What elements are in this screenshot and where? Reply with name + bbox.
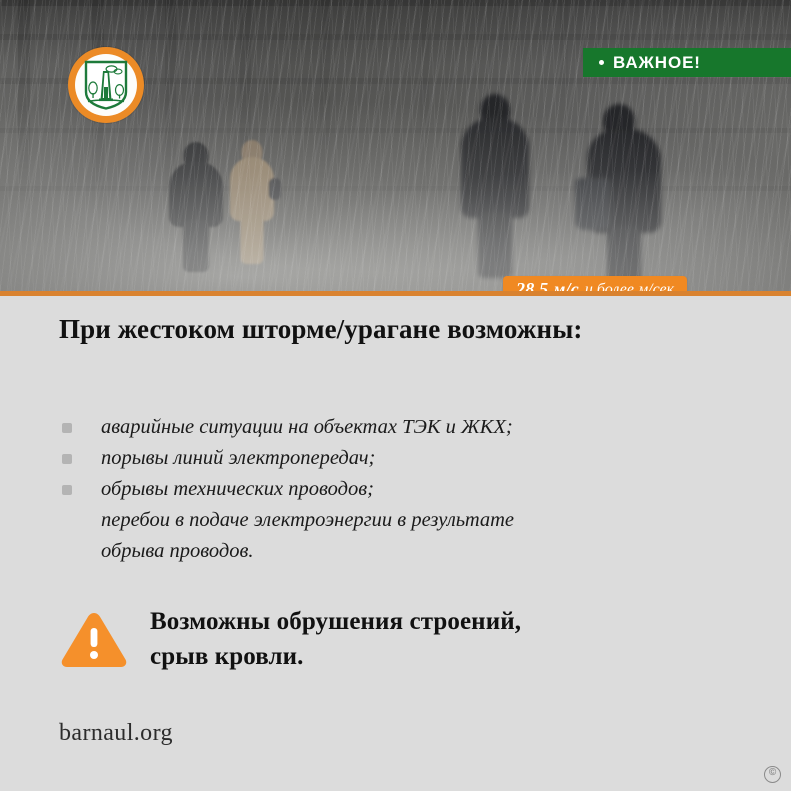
list-item-label: обрыва проводов.	[101, 540, 254, 562]
important-badge-label: ВАЖНОЕ!	[613, 54, 701, 71]
bullet-dot-icon	[599, 60, 604, 65]
list-item-label: обрывы технических проводов;	[101, 478, 374, 500]
site-url[interactable]: barnaul.org	[59, 720, 173, 747]
list-item-label: аварийные ситуации на объектах ТЭК и ЖКХ…	[101, 416, 513, 438]
storm-warning-poster: ВАЖНОЕ! 28,5 м/с и более м/сек При жесто…	[0, 0, 791, 791]
barnaul-coat-of-arms-logo	[68, 47, 144, 123]
hazard-list: аварийные ситуации на объектах ТЭК и ЖКХ…	[59, 412, 749, 567]
collapse-warning-line-1: Возможны обрушения строений,	[150, 604, 521, 639]
collapse-warning-line-2: срыв кровли.	[150, 639, 521, 674]
list-item: перебои в подаче электроэнергии в резуль…	[59, 505, 749, 536]
page-title: При жестоком шторме/урагане возможны:	[59, 310, 719, 348]
list-item: обрыва проводов.	[59, 536, 749, 567]
bullet-square-icon	[62, 454, 72, 464]
collapse-warning-text: Возможны обрушения строений, срыв кровли…	[150, 604, 521, 674]
emblem-shield-icon	[84, 60, 128, 110]
list-item: аварийные ситуации на объектах ТЭК и ЖКХ…	[59, 412, 749, 443]
list-item-label: порывы линий электропередач;	[101, 447, 375, 469]
list-item: обрывы технических проводов;	[59, 474, 749, 505]
bullet-square-icon	[62, 423, 72, 433]
bullet-square-icon	[62, 485, 72, 495]
important-badge: ВАЖНОЕ!	[583, 48, 791, 77]
list-item-label: перебои в подаче электроэнергии в резуль…	[101, 509, 514, 531]
photo-vignette	[0, 0, 791, 291]
list-item: порывы линий электропередач;	[59, 443, 749, 474]
collapse-warning-block: Возможны обрушения строений, срыв кровли…	[59, 604, 759, 674]
copyright-icon: ©	[764, 766, 781, 783]
content-panel: При жестоком шторме/урагане возможны: ав…	[0, 296, 791, 791]
warning-triangle-icon	[59, 610, 129, 670]
storm-photo	[0, 0, 791, 291]
